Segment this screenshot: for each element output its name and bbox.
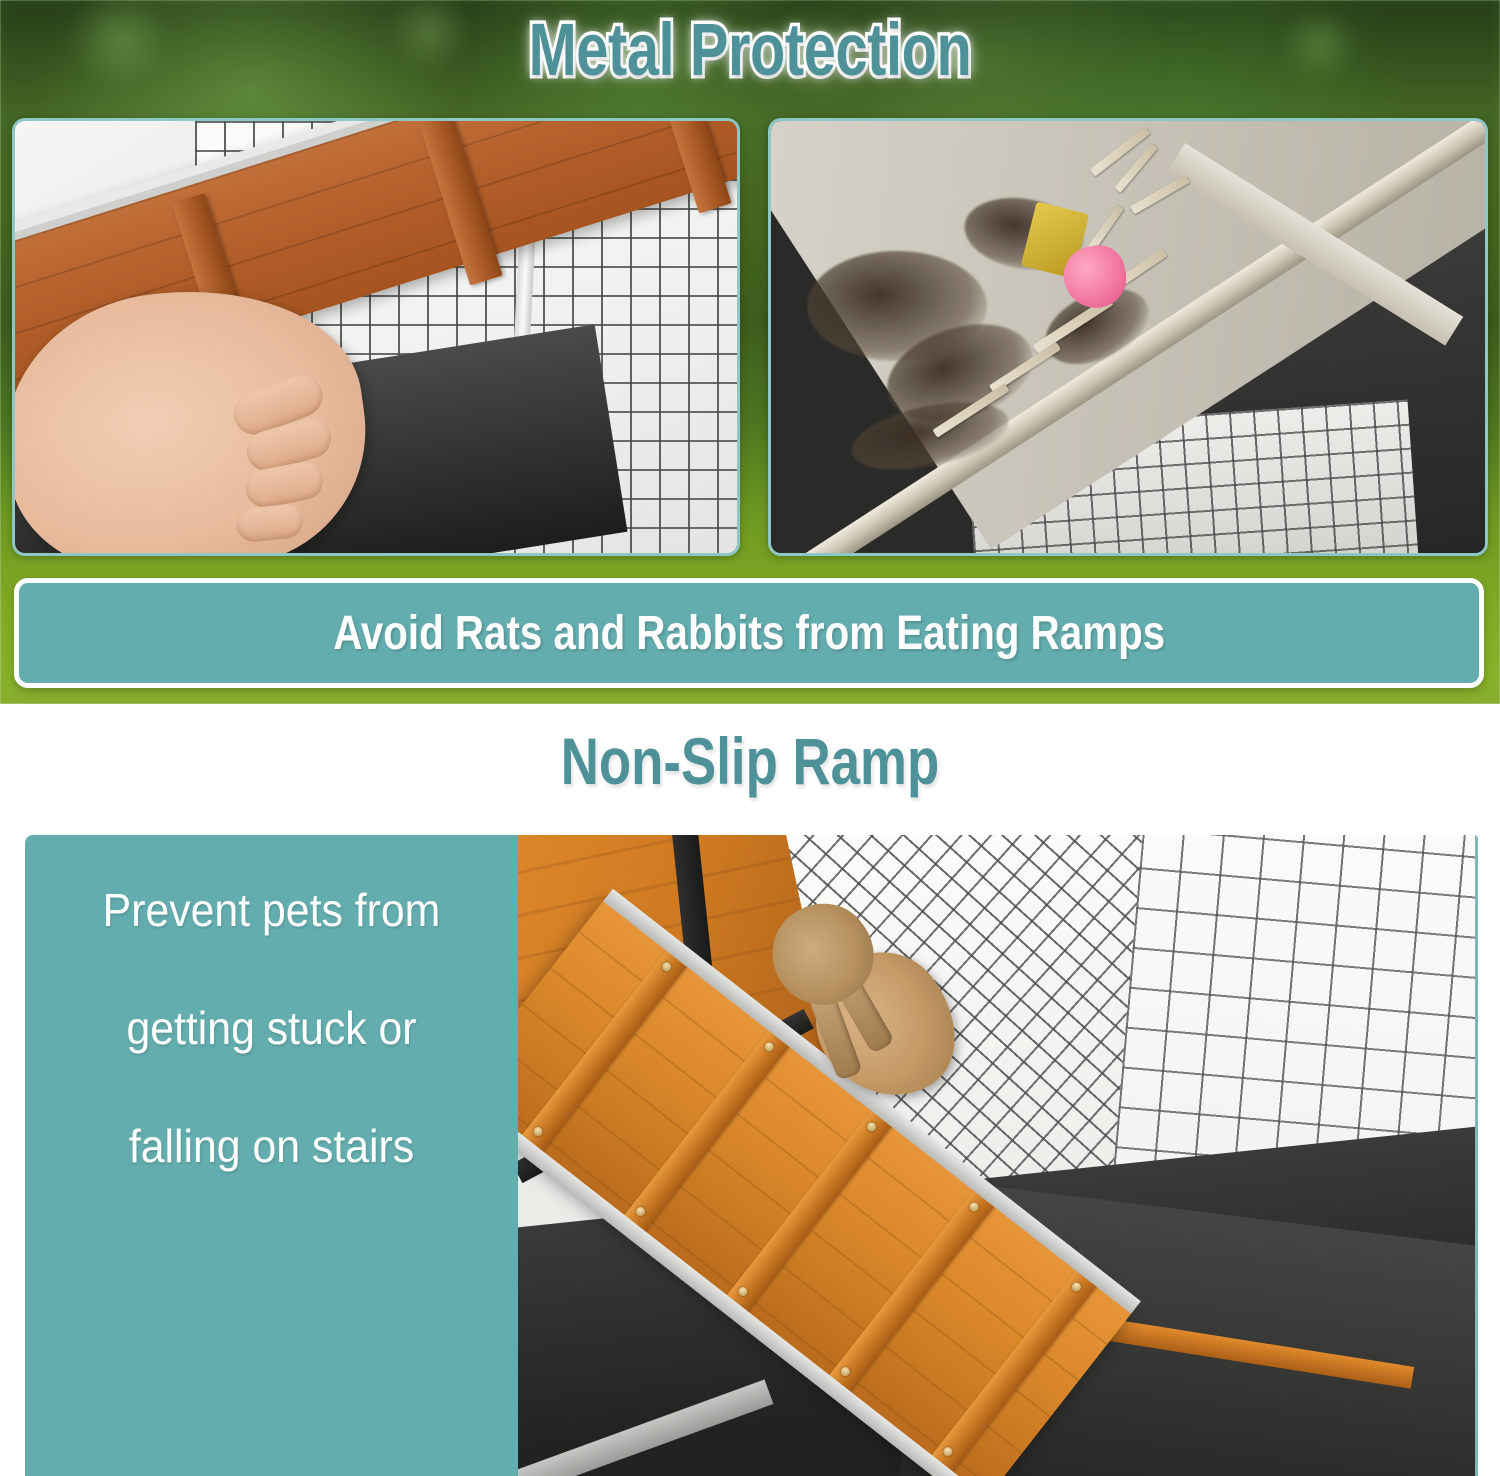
caption-line: falling on stairs bbox=[42, 1123, 500, 1169]
anti-slip-cleat bbox=[518, 944, 692, 1157]
caption-line: getting stuck or bbox=[42, 1005, 500, 1051]
top-photo-row bbox=[0, 118, 1500, 556]
non-slip-ramp-section: Non-Slip Ramp Prevent pets from getting … bbox=[0, 704, 1500, 1476]
banner-text: Avoid Rats and Rabbits from Eating Ramps bbox=[333, 606, 1165, 661]
finger bbox=[235, 503, 304, 544]
chewed-ramp-damage-photo bbox=[768, 118, 1488, 556]
rabbit-on-nonslip-ramp-photo bbox=[518, 835, 1478, 1476]
ramp-cleat bbox=[420, 118, 503, 286]
metal-edge-ramp-photo bbox=[12, 118, 740, 556]
metal-edge-ramp-scene bbox=[15, 121, 737, 553]
page-title: Metal Protection bbox=[165, 6, 1335, 93]
avoid-eating-ramps-banner: Avoid Rats and Rabbits from Eating Ramps bbox=[14, 578, 1484, 688]
anti-slip-cleat bbox=[824, 1184, 998, 1397]
anti-slip-cleat bbox=[620, 1024, 794, 1237]
metal-protection-section: Metal Protection bbox=[0, 0, 1500, 704]
caption-line: Prevent pets from bbox=[42, 887, 500, 933]
anti-slip-cleat bbox=[722, 1104, 896, 1317]
non-slip-ramp-stage: Prevent pets from getting stuck or falli… bbox=[25, 835, 1478, 1476]
chewed-ramp-scene bbox=[771, 121, 1485, 553]
section-title: Non-Slip Ramp bbox=[150, 722, 1350, 801]
caption-panel: Prevent pets from getting stuck or falli… bbox=[25, 835, 518, 1476]
